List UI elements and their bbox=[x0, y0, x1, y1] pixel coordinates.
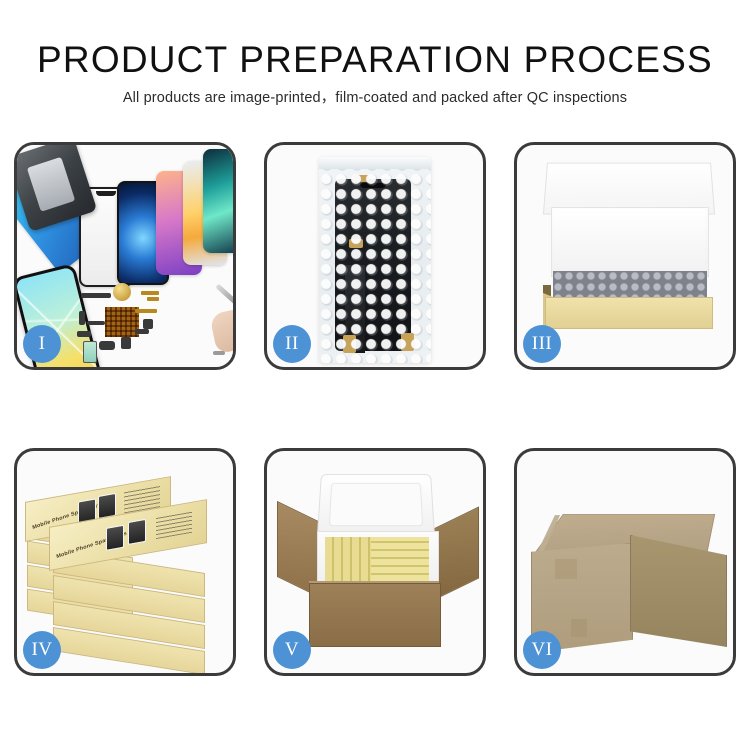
chip-part bbox=[99, 341, 115, 350]
step-badge-2: II bbox=[273, 325, 311, 363]
step-badge-4: IV bbox=[23, 631, 61, 669]
yellow-boxes-row bbox=[371, 537, 429, 581]
bag-seal bbox=[319, 157, 431, 169]
carton-front-panel bbox=[309, 583, 441, 647]
chip-part bbox=[81, 293, 111, 298]
chip-part bbox=[135, 329, 149, 334]
step-badge-6: VI bbox=[523, 631, 561, 669]
process-step-1: I bbox=[14, 142, 236, 370]
step-badge-1: I bbox=[23, 325, 61, 363]
chip-part bbox=[121, 337, 131, 349]
carton-sticker bbox=[571, 619, 587, 637]
connector-grid bbox=[105, 307, 139, 337]
process-step-4: Mobile Phone Spare Parts Mobile Phone Sp… bbox=[14, 448, 236, 676]
chip-part bbox=[79, 311, 85, 325]
flex-cable-part bbox=[147, 297, 159, 301]
carton-right-face bbox=[630, 535, 727, 647]
flex-cable-part bbox=[135, 309, 157, 313]
step-badge-5: V bbox=[273, 631, 311, 669]
box-front-panel bbox=[545, 297, 713, 329]
page-subtitle: All products are image-printed，film-coat… bbox=[0, 87, 750, 109]
chip-part bbox=[77, 331, 91, 337]
green-gradient-phone bbox=[203, 149, 233, 253]
chip-part bbox=[87, 321, 105, 325]
gold-coil-part bbox=[113, 283, 131, 301]
bubble-wrap-bag bbox=[319, 157, 431, 363]
carton-sticker bbox=[555, 559, 577, 579]
process-step-3: III bbox=[514, 142, 736, 370]
screw-part bbox=[213, 351, 225, 355]
page-title: PRODUCT PREPARATION PROCESS bbox=[0, 38, 750, 82]
process-step-6: VI bbox=[514, 448, 736, 676]
foam-lid bbox=[317, 474, 435, 536]
small-screen-part bbox=[83, 341, 97, 363]
process-steps-grid: I II III bbox=[14, 142, 736, 676]
page-header: PRODUCT PREPARATION PROCESS All products… bbox=[0, 0, 750, 109]
flex-cable-part bbox=[141, 291, 159, 295]
chip-part bbox=[143, 319, 153, 329]
bubble-texture bbox=[319, 157, 431, 363]
white-foam-sheet bbox=[553, 209, 705, 271]
process-step-2: II bbox=[264, 142, 486, 370]
step-badge-3: III bbox=[523, 325, 561, 363]
grey-bubble-wrap bbox=[553, 271, 707, 299]
process-step-5: V bbox=[264, 448, 486, 676]
